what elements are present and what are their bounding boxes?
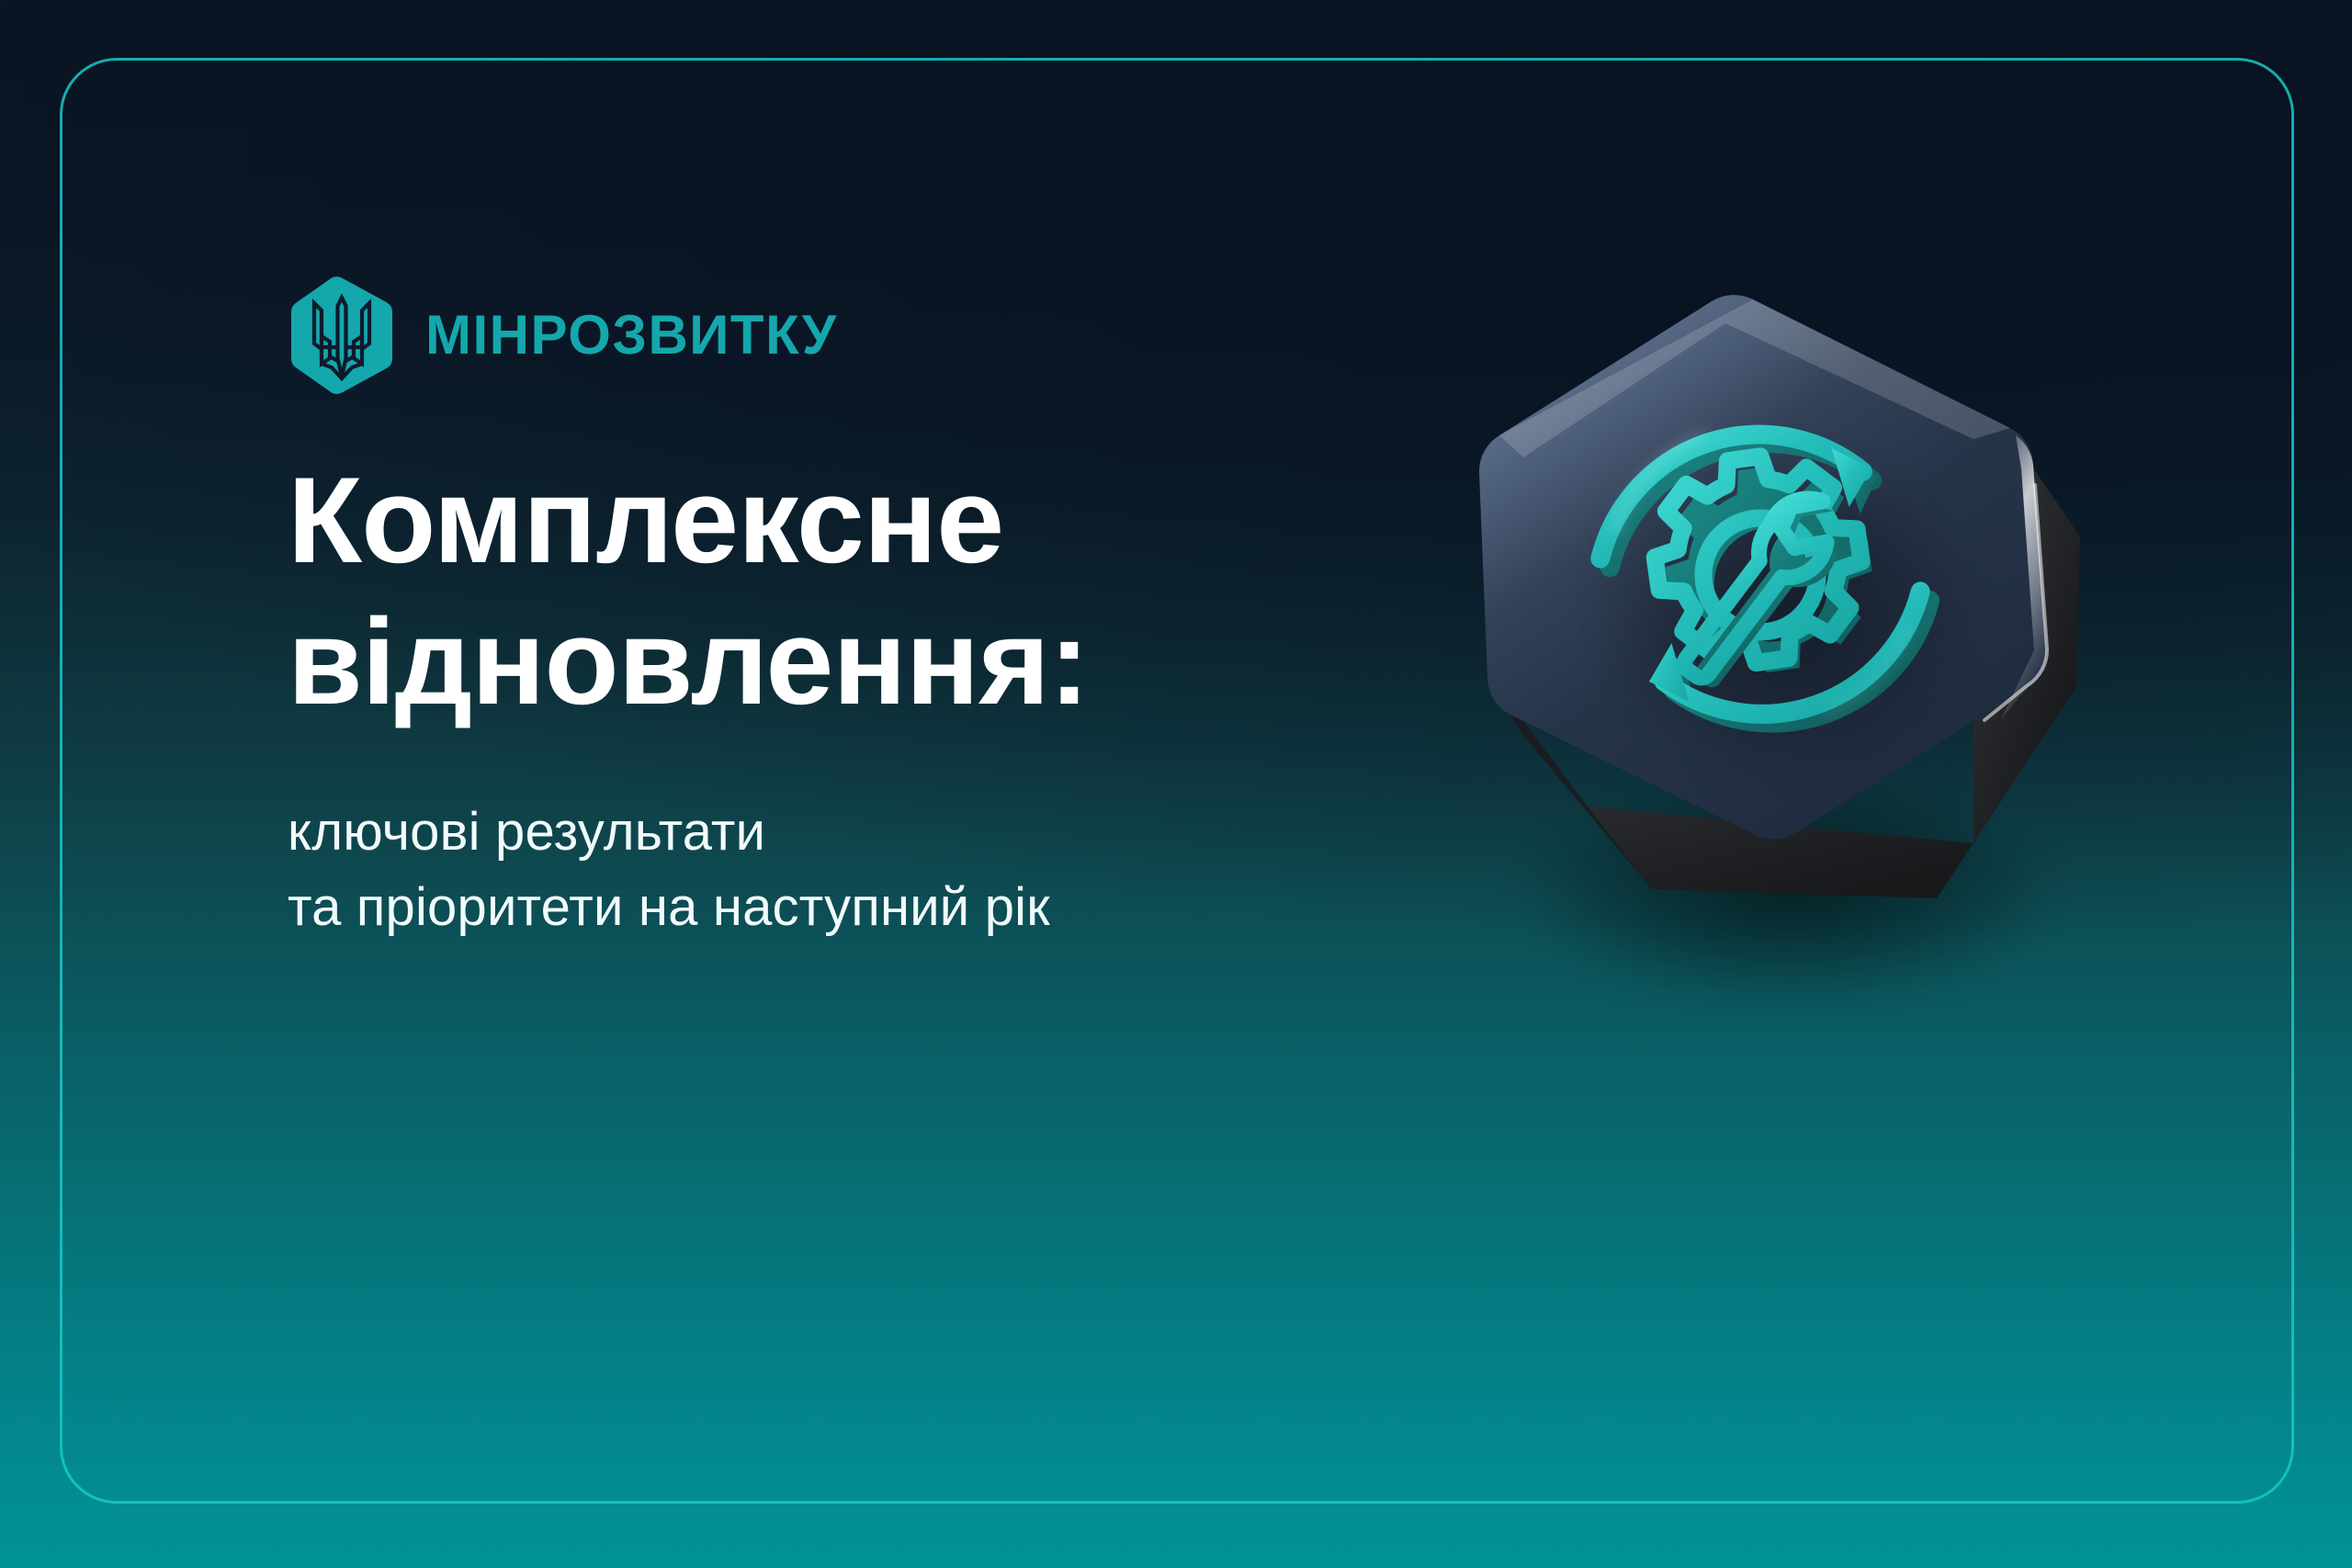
subtitle-line-1: ключові результати bbox=[288, 795, 1408, 870]
ukraine-trident-hexagon-logo-icon bbox=[288, 276, 396, 395]
brand-wordmark: МІНРОЗВИТКУ bbox=[425, 308, 838, 363]
subtitle-line-2: та пріоритети на наступний рік bbox=[288, 870, 1408, 945]
reconstruction-3d-hexagon-badge bbox=[1422, 255, 2176, 1009]
title-line-2: відновлення: bbox=[288, 592, 1372, 733]
title-line-1: Комплексне bbox=[288, 450, 1372, 592]
page-subtitle: ключові результати та пріоритети на наст… bbox=[288, 795, 1408, 946]
slide-canvas: МІНРОЗВИТКУ Комплексне відновлення: ключ… bbox=[0, 0, 2352, 1568]
brand-lockup: МІНРОЗВИТКУ bbox=[288, 276, 838, 395]
page-title: Комплексне відновлення: bbox=[288, 450, 1372, 734]
